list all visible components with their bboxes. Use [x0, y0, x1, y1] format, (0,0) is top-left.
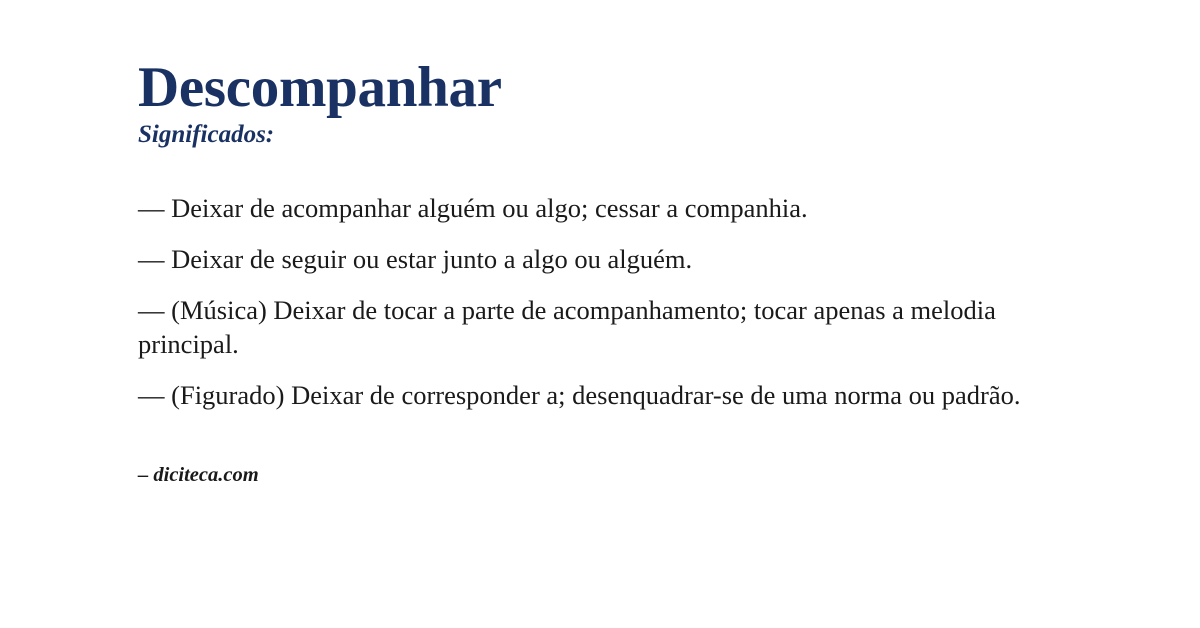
- meanings-label: Significados:: [138, 121, 274, 150]
- definition-list: — Deixar de acompanhar alguém ou algo; c…: [138, 150, 1063, 413]
- list-item: — (Música) Deixar de tocar a parte de ac…: [138, 294, 1063, 362]
- dictionary-entry-card: Descompanhar Significados: — Deixar de a…: [0, 0, 1200, 628]
- list-item: — Deixar de acompanhar alguém ou algo; c…: [138, 192, 1063, 226]
- list-item: — (Figurado) Deixar de corresponder a; d…: [138, 379, 1063, 413]
- list-item: — Deixar de seguir ou estar junto a algo…: [138, 243, 1063, 277]
- page-title: Descompanhar: [138, 58, 502, 117]
- source-attribution: – diciteca.com: [138, 463, 259, 488]
